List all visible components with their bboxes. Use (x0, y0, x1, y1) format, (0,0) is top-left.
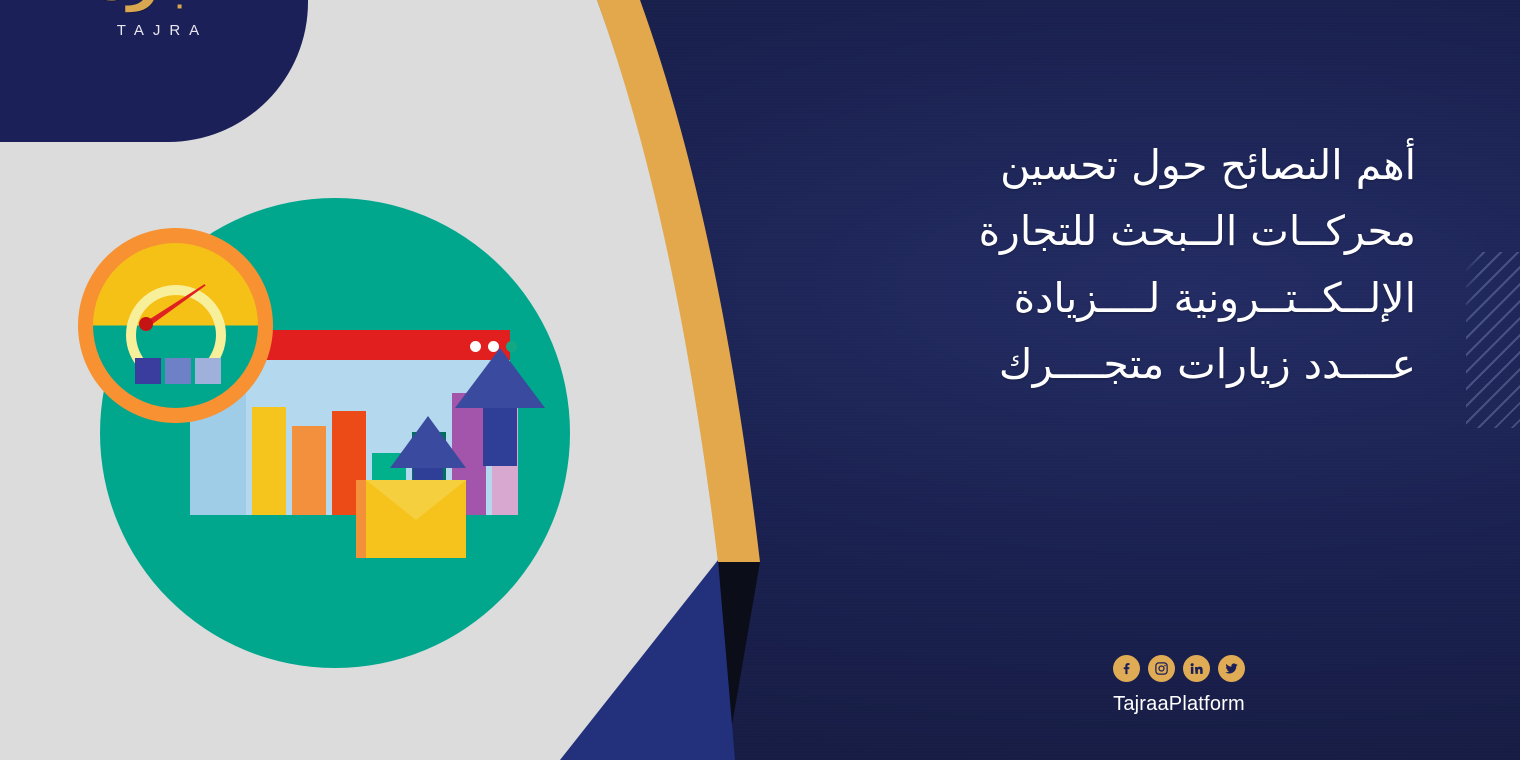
headline-line-1: أهم النصائح حول تحسين (796, 132, 1416, 198)
logo-arabic-wordmark: تجرة (78, 0, 238, 8)
arrow-head (390, 416, 466, 468)
envelope-icon (356, 480, 466, 558)
footer: TajraaPlatform (1099, 655, 1259, 716)
arrow-head (455, 348, 545, 408)
speedometer-gauge-icon (78, 228, 273, 423)
arrow-shaft (483, 408, 517, 466)
headline-line-3: الإلــكــتــرونية لــــزيادة (796, 265, 1416, 331)
logo-latin-wordmark: TAJRA (78, 22, 238, 39)
social-link-linkedin[interactable] (1183, 655, 1210, 682)
headline: أهم النصائح حول تحسين محركــات الــبحث ل… (796, 132, 1416, 398)
twitter-icon (1224, 661, 1239, 676)
logo[interactable]: تجرة TAJRA (78, 0, 238, 39)
banner-canvas: تجرة TAJRA (0, 0, 1520, 760)
growth-arrow-large-icon (455, 348, 545, 466)
headline-line-4: عــــدد زيارات متجــــرك (796, 331, 1416, 397)
chart-bar (292, 426, 326, 515)
social-links (1099, 655, 1259, 682)
gauge-square-3 (195, 358, 221, 384)
linkedin-icon (1189, 661, 1204, 676)
facebook-icon (1119, 661, 1134, 676)
gauge-hub (139, 317, 153, 331)
social-link-twitter[interactable] (1218, 655, 1245, 682)
chart-bar (252, 407, 286, 515)
seo-illustration (60, 180, 600, 670)
social-handle: TajraaPlatform (1099, 693, 1259, 716)
gauge-square-2 (165, 358, 191, 384)
headline-line-2: محركــات الــبحث للتجارة (796, 198, 1416, 264)
instagram-icon (1154, 661, 1169, 676)
social-link-facebook[interactable] (1113, 655, 1140, 682)
social-link-instagram[interactable] (1148, 655, 1175, 682)
speedometer-face (93, 243, 258, 408)
gauge-square-1 (135, 358, 161, 384)
